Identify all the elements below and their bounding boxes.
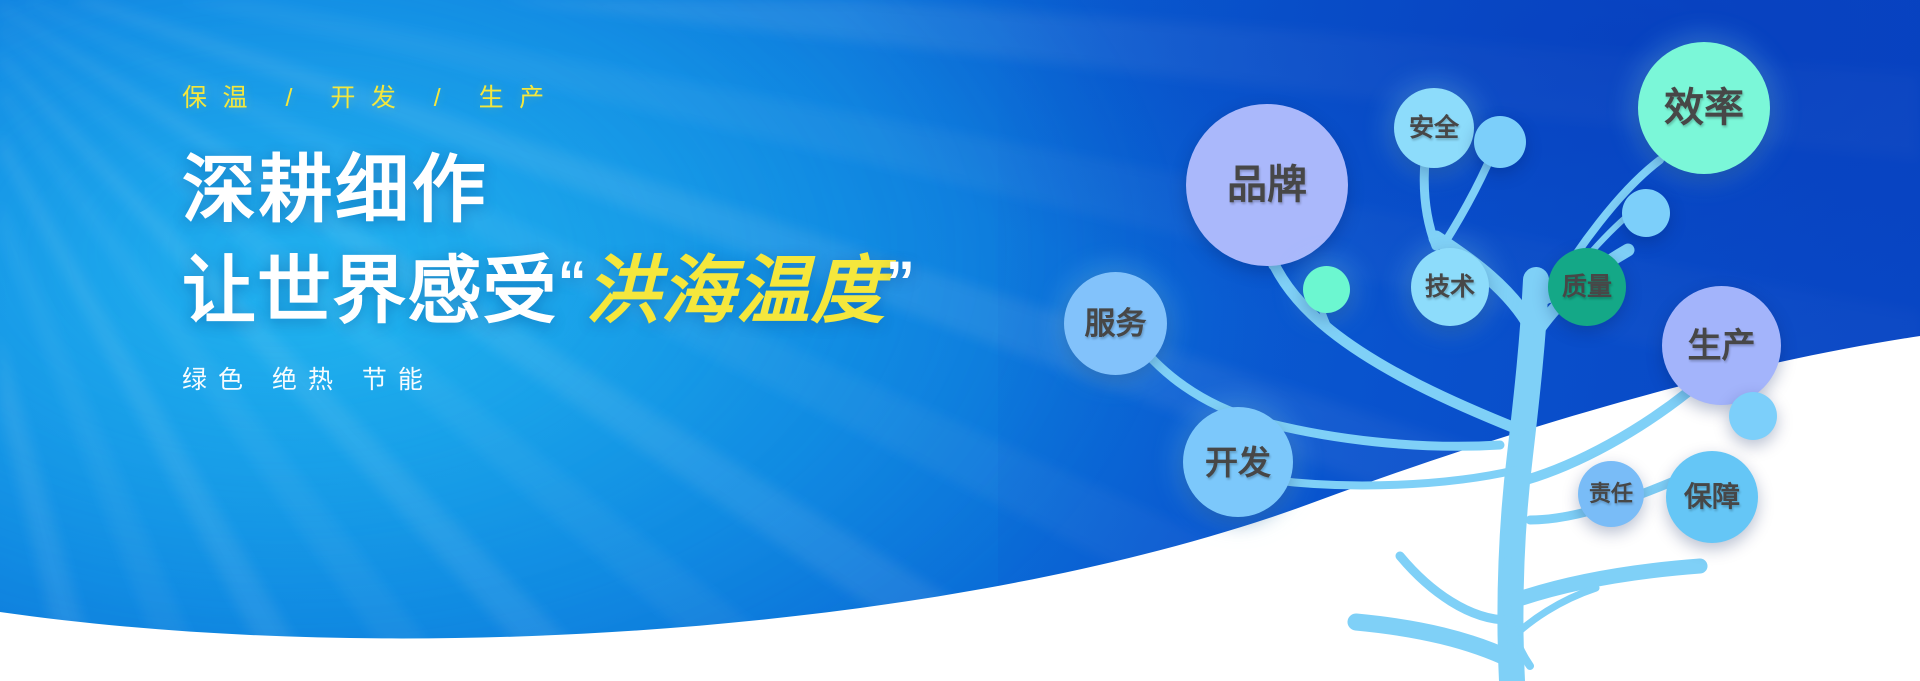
- bubble-label: 质量: [1562, 275, 1612, 300]
- quote-open-mark: “: [558, 254, 586, 312]
- brand-phrase: 洪海温度: [585, 253, 885, 328]
- bubble-安全[interactable]: 安全: [1394, 88, 1474, 168]
- sub-tagline: 绿色 绝热 节能: [182, 368, 942, 393]
- bubble-效率[interactable]: 效率: [1638, 42, 1770, 174]
- quote-close-mark: ”: [886, 254, 914, 312]
- bubble-decorative-2: [1474, 116, 1526, 168]
- bubble-label: 技术: [1425, 275, 1475, 300]
- bubble-label: 责任: [1589, 483, 1633, 505]
- bubble-保障[interactable]: 保障: [1666, 451, 1758, 543]
- bubble-label: 生产: [1688, 329, 1756, 363]
- headline-line-2: 让世界感受 “ 洪海温度 ”: [182, 253, 942, 328]
- headline-block: 保温 / 开发 / 生产 深耕细作 让世界感受 “ 洪海温度 ” 绿色 绝热 节…: [182, 86, 942, 393]
- bubble-技术[interactable]: 技术: [1411, 248, 1489, 326]
- bubble-质量[interactable]: 质量: [1548, 248, 1626, 326]
- headline-line-2-prefix: 让世界感受: [182, 253, 558, 328]
- bubble-品牌[interactable]: 品牌: [1186, 104, 1348, 266]
- bubble-label: 服务: [1085, 308, 1147, 339]
- bubble-责任[interactable]: 责任: [1578, 461, 1644, 527]
- headline-line-1: 深耕细作: [182, 153, 942, 227]
- headline-quoted-phrase: “ 洪海温度 ”: [558, 253, 914, 328]
- bubble-label: 保障: [1684, 483, 1740, 511]
- eyebrow-tagline: 保温 / 开发 / 生产: [182, 86, 942, 111]
- bubble-decorative-3: [1622, 189, 1670, 237]
- bubble-label: 品牌: [1227, 165, 1307, 205]
- bubble-生产[interactable]: 生产: [1662, 286, 1781, 405]
- bubble-开发[interactable]: 开发: [1183, 407, 1293, 517]
- hero-banner: 效率安全品牌技术质量服务生产开发责任保障 保温 / 开发 / 生产 深耕细作 让…: [0, 0, 1920, 681]
- bubble-label: 安全: [1409, 116, 1459, 141]
- bubble-decorative-10: [1729, 392, 1777, 440]
- bubble-label: 效率: [1664, 88, 1744, 128]
- bubble-label: 开发: [1205, 446, 1271, 479]
- bubble-decorative-7: [1303, 266, 1350, 313]
- bubble-服务[interactable]: 服务: [1064, 272, 1167, 375]
